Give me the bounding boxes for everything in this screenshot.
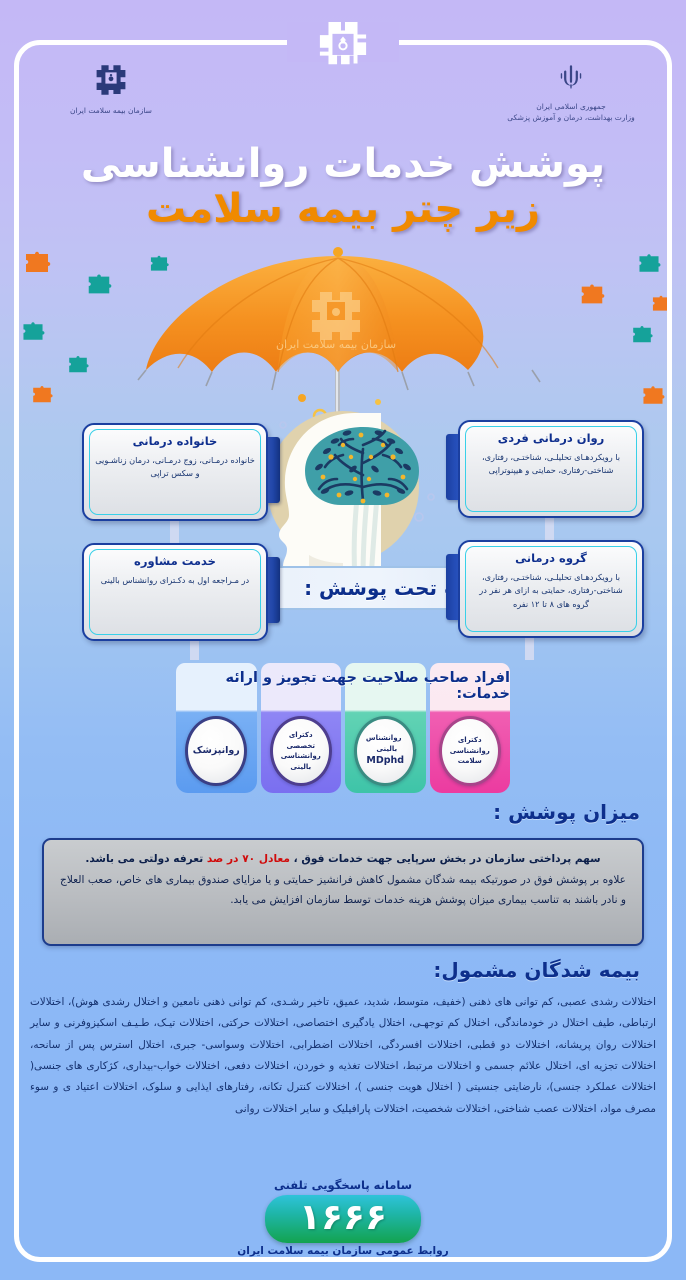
qualified-provider-item[interactable]: دکترای تخصصی روانشناسی بالینی	[261, 709, 342, 793]
title-line-1: پوشش خدمات روانشناسی	[0, 142, 686, 187]
coverage-line-1-after: تعرفه دولتی می باشد.	[85, 853, 207, 865]
right-logo-caption-line2: وزارت بهداشت، درمان و آموزش پزشکی	[496, 112, 646, 123]
provider-label-extra: MDphd	[360, 754, 410, 768]
provider-circle: روانپزشک	[185, 716, 247, 786]
health-insurance-emblem-icon	[310, 18, 376, 84]
coverage-details-box: سهم پرداختی سازمان در بخش سرپایی جهت خدم…	[42, 838, 644, 946]
qualified-providers-section: افراد صاحب صلاحیت جهت تجویز و ارائه خدما…	[176, 663, 510, 793]
qualified-provider-item[interactable]: روانشناس بالینی MDphd	[345, 709, 426, 793]
card-description: خانواده درمـانی، زوج درمـانی، درمان زناش…	[95, 454, 255, 481]
card-title: خانواده درمانی	[95, 434, 255, 448]
left-logo-caption: سازمان بیمه سلامت ایران	[46, 105, 176, 116]
provider-label: دکترای تخصصی روانشناسی بالینی	[273, 730, 329, 772]
card-title: روان درمانی فردی	[471, 431, 631, 445]
infographic-poster: سازمان بیمه سلامت ایران جمهوری اسلامی ای…	[0, 0, 686, 1280]
puzzle-piece-icon	[578, 282, 606, 308]
iran-health-insurance-logo-icon	[91, 62, 131, 102]
card-title: گروه درمانی	[471, 551, 631, 565]
coverage-line-1: سهم پرداختی سازمان در بخش سرپایی جهت خدم…	[60, 849, 626, 870]
footer-caption: سامانه پاسخگویی تلفنی	[0, 1178, 686, 1192]
qualified-provider-item[interactable]: روانپزشک	[176, 709, 257, 793]
puzzle-piece-icon	[85, 272, 113, 298]
provider-circle: دکترای روانشناسی سلامت	[439, 716, 501, 786]
puzzle-piece-icon	[636, 252, 662, 276]
coverage-highlight: معادل ۷۰ در صد	[207, 853, 290, 865]
service-card-counselling[interactable]: خدمت مشاوره در مـراجعه اول به دکـترای رو…	[82, 543, 288, 641]
provider-label: روانپزشک	[190, 744, 243, 758]
service-card-individual-psychotherapy[interactable]: روان درمانی فردی با رویکردهـای تحلیلـی، …	[438, 420, 644, 518]
puzzle-piece-icon	[650, 294, 672, 314]
puzzle-piece-icon	[20, 320, 46, 344]
phone-number: ۱۶۶۶	[299, 1197, 387, 1238]
qualified-providers-list: دکترای روانشناسی سلامت روانشناس بالینی M…	[176, 709, 510, 793]
card-description: در مـراجعه اول به دکـترای روانشناس بالین…	[95, 574, 255, 587]
card-description: با رویکردهـای تحلیلـی، شناختـی، رفتاری، …	[471, 451, 631, 478]
provider-circle: روانشناس بالینی MDphd	[354, 716, 416, 786]
page-title: پوشش خدمات روانشناسی زیر چتر بیمه سلامت	[0, 142, 686, 232]
coverage-section-label: میزان پوشش :	[493, 800, 640, 824]
insured-conditions-text: اختلالات رشدی عصبی، کم توانی های ذهنی (خ…	[30, 992, 656, 1120]
umbrella-logo-text: سازمان بیمه سلامت ایران	[276, 338, 396, 351]
puzzle-piece-icon	[22, 250, 52, 276]
puzzle-piece-icon	[66, 354, 90, 376]
puzzle-piece-icon	[640, 384, 666, 408]
provider-circle: دکترای تخصصی روانشناسی بالینی	[270, 716, 332, 786]
right-logo-block: جمهوری اسلامی ایران وزارت بهداشت، درمان …	[496, 62, 646, 124]
left-logo-block: سازمان بیمه سلامت ایران	[46, 62, 176, 116]
qualified-heading-text: افراد صاحب صلاحیت جهت تجویز و ارائه خدما…	[176, 670, 510, 702]
coverage-paragraph: علاوه بر پوشش فوق در صورتیکه بیمه شدگان …	[60, 870, 626, 911]
puzzle-piece-icon	[630, 324, 654, 346]
islamic-republic-of-iran-emblem-icon	[558, 62, 584, 98]
footer-organization: روابط عمومی سازمان بیمه سلامت ایران	[0, 1245, 686, 1257]
title-line-2: زیر چتر بیمه سلامت	[0, 187, 686, 232]
qualified-provider-item[interactable]: دکترای روانشناسی سلامت	[430, 709, 511, 793]
provider-label: روانشناس بالینی	[366, 734, 405, 753]
footer: سامانه پاسخگویی تلفنی ۱۶۶۶ روابط عمومی س…	[0, 1178, 686, 1257]
coverage-line-1-before: سهم پرداختی سازمان در بخش سرپایی جهت خدم…	[290, 853, 601, 865]
provider-label: دکترای روانشناسی سلامت	[442, 735, 498, 767]
card-description: با رویکردهـای تحلیلـی، شناختـی، رفتاری، …	[471, 571, 631, 611]
qualified-providers-heading: افراد صاحب صلاحیت جهت تجویز و ارائه خدما…	[176, 663, 510, 709]
insured-section-label: بیمه شدگان مشمول:	[433, 958, 640, 982]
phone-number-badge[interactable]: ۱۶۶۶	[265, 1195, 421, 1243]
card-title: خدمت مشاوره	[95, 554, 255, 568]
service-card-group-therapy[interactable]: گروه درمانی با رویکردهـای تحلیلـی، شناخت…	[438, 540, 644, 638]
right-logo-caption-line1: جمهوری اسلامی ایران	[496, 101, 646, 112]
puzzle-piece-icon	[30, 384, 54, 406]
service-card-family-therapy[interactable]: خانواده درمانی خانواده درمـانی، زوج درمـ…	[82, 423, 288, 521]
